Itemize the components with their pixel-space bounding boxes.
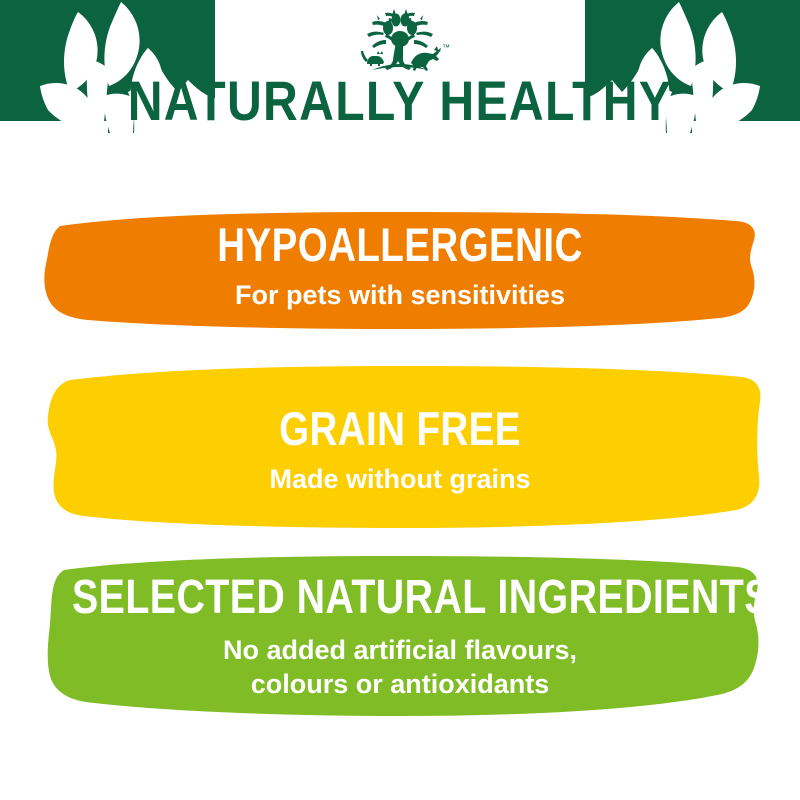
feature-banner-grainfree: GRAIN FREE Made without grains xyxy=(0,358,800,538)
banner-subtitle-hypoallergenic: For pets with sensitivities xyxy=(0,280,800,310)
trademark-symbol: ™ xyxy=(442,43,450,52)
banner-title-ingredients: SELECTED NATURAL INGREDIENTS xyxy=(72,572,728,624)
feature-banner-ingredients: SELECTED NATURAL INGREDIENTS No added ar… xyxy=(0,550,800,725)
feature-banner-hypoallergenic: HYPOALLERGENIC For pets with sensitiviti… xyxy=(0,192,800,340)
tree-paw-logo-icon: ™ xyxy=(340,6,460,78)
banner-title-hypoallergenic: HYPOALLERGENIC xyxy=(72,220,728,270)
banner-subtitle-grainfree: Made without grains xyxy=(0,464,800,494)
banner-title-grainfree: GRAIN FREE xyxy=(72,404,728,454)
banner-subtitle-ingredients: No added artificial flavours, colours or… xyxy=(0,633,800,701)
header-banner: ™ NATURALLY HEALTHY xyxy=(0,0,800,150)
banner-subtitle-line2: colours or antioxidants xyxy=(251,669,550,699)
banner-subtitle-line1: No added artificial flavours, xyxy=(223,635,577,665)
page-title: NATURALLY HEALTHY xyxy=(56,72,744,130)
